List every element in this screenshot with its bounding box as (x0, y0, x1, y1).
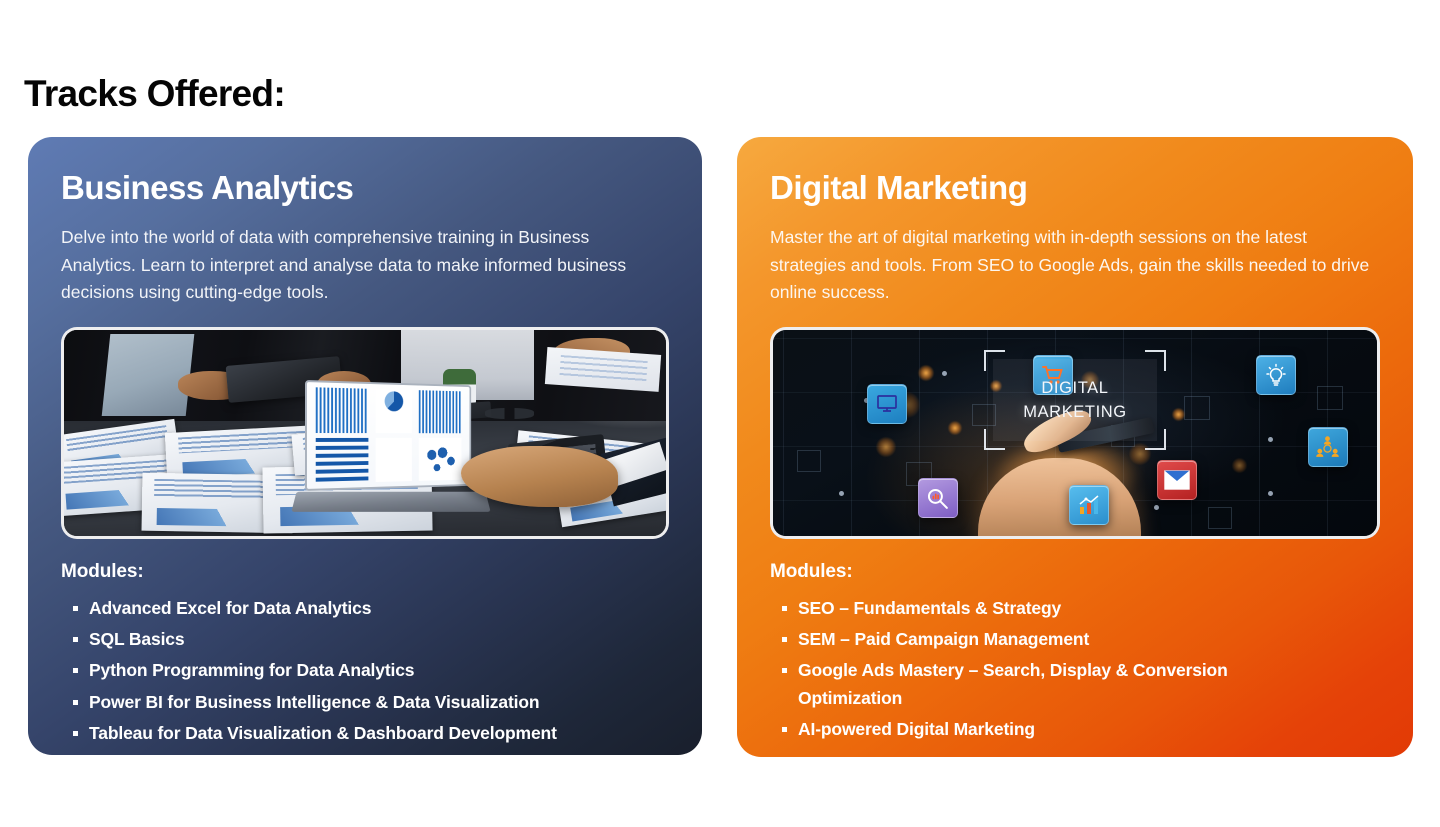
module-item: SEO – Fundamentals & Strategy (798, 595, 1333, 626)
track-card-digital-marketing[interactable]: Digital Marketing Master the art of digi… (737, 137, 1413, 757)
photo-bokeh-light (918, 365, 934, 381)
page-title: Tracks Offered: (24, 72, 285, 116)
photo-kpi-widget (376, 438, 412, 482)
photo-laptop-screen (305, 380, 471, 491)
bracket-top-right-icon (1145, 350, 1166, 371)
bracket-top-left-icon (984, 350, 1005, 371)
lightbulb-icon (1256, 355, 1296, 395)
module-item: Google Ads Mastery – Search, Display & C… (798, 657, 1333, 715)
photo-grid-square (797, 450, 821, 472)
photo-laptop (305, 380, 492, 516)
card-image-digital-marketing: DIGITALMARKETING (770, 327, 1380, 539)
card-title-business-analytics: Business Analytics (61, 137, 669, 208)
digital-marketing-photo: DIGITALMARKETING (773, 330, 1377, 536)
card-title-digital-marketing: Digital Marketing (770, 137, 1380, 208)
modules-list-digital-marketing: SEO – Fundamentals & Strategy SEM – Paid… (770, 583, 1380, 747)
photo-bokeh-light (948, 421, 962, 435)
modules-heading-business-analytics: Modules: (61, 539, 669, 583)
module-item: Advanced Excel for Data Analytics (89, 595, 669, 626)
photo-chart-widget (419, 390, 462, 433)
photo-held-report (544, 347, 661, 392)
modules-list-business-analytics: Advanced Excel for Data Analytics SQL Ba… (61, 583, 669, 751)
digital-marketing-label-plate: DIGITALMARKETING (993, 359, 1156, 441)
photo-bokeh-light (1172, 408, 1185, 421)
module-item: SEM – Paid Campaign Management (798, 626, 1333, 657)
photo-eyeglasses (485, 408, 533, 418)
bracket-bottom-left-icon (984, 429, 1005, 450)
track-card-business-analytics[interactable]: Business Analytics Delve into the world … (28, 137, 702, 755)
module-item: Power BI for Business Intelligence & Dat… (89, 689, 669, 720)
photo-grid-square (1208, 507, 1232, 529)
photo-bokeh-light (876, 437, 896, 457)
module-item: Python Programming for Data Analytics (89, 657, 669, 688)
envelope-icon (1157, 460, 1197, 500)
photo-map-widget (419, 438, 462, 481)
photo-dashboard-ui (316, 387, 462, 483)
label-line-2: MARKETING (1023, 403, 1127, 421)
photo-person-shirt (102, 334, 195, 416)
photo-grid-square (1184, 396, 1210, 420)
photo-pie-widget (376, 389, 412, 433)
label-line-1: DIGITAL (1041, 379, 1108, 397)
module-item: SQL Basics (89, 626, 669, 657)
module-item: AI-powered Digital Marketing (798, 716, 1333, 747)
bar-chart-icon (1069, 485, 1109, 525)
analytics-desk-photo (64, 330, 666, 536)
photo-bokeh-light (1232, 458, 1247, 473)
slide-root: Tracks Offered: Business Analytics Delve… (0, 0, 1440, 827)
module-item: Tableau for Data Visualization & Dashboa… (89, 720, 669, 751)
photo-chart-widget (316, 387, 369, 433)
card-description-business-analytics: Delve into the world of data with compre… (61, 208, 661, 306)
card-description-digital-marketing: Master the art of digital marketing with… (770, 208, 1380, 306)
photo-laptop-keyboard (291, 492, 490, 512)
magnifier-analytics-icon (918, 478, 958, 518)
photo-grid-square (1317, 386, 1343, 410)
bracket-bottom-right-icon (1145, 429, 1166, 450)
photo-bar-widget (316, 438, 369, 484)
photo-network-node (1154, 505, 1159, 510)
people-network-icon (1308, 427, 1348, 467)
monitor-icon (867, 384, 907, 424)
card-image-business-analytics (61, 327, 669, 539)
modules-heading-digital-marketing: Modules: (770, 539, 1380, 583)
digital-marketing-label-text: DIGITALMARKETING (1023, 376, 1127, 425)
